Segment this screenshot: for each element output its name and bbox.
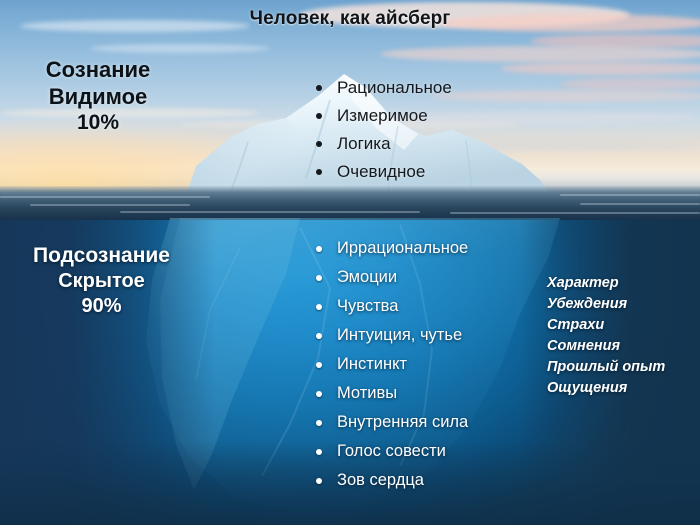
subconscious-percent: 90% bbox=[4, 294, 199, 319]
conscious-bullet-item: Логика bbox=[307, 130, 452, 158]
subconscious-traits-list: ХарактерУбежденияСтрахиСомненияПрошлый о… bbox=[547, 273, 665, 399]
page-title: Человек, как айсберг bbox=[0, 8, 700, 30]
subconscious-bullet-item: Чувства bbox=[307, 292, 468, 321]
conscious-heading-line2: Видимое bbox=[8, 83, 188, 110]
subconscious-bullet-item: Зов сердца bbox=[307, 466, 468, 495]
conscious-bullet-list: РациональноеИзмеримоеЛогикаОчевидное bbox=[307, 74, 452, 186]
subconscious-trait-item: Сомнения bbox=[547, 336, 665, 357]
subconscious-label: Подсознание Скрытое 90% bbox=[4, 243, 199, 319]
subconscious-trait-item: Ощущения bbox=[547, 378, 665, 399]
sea-surface bbox=[0, 186, 700, 222]
subconscious-trait-item: Прошлый опыт bbox=[547, 357, 665, 378]
conscious-heading-line1: Сознание bbox=[8, 56, 188, 83]
subconscious-bullet-item: Интуиция, чутье bbox=[307, 321, 468, 350]
subconscious-trait-item: Характер bbox=[547, 273, 665, 294]
subconscious-trait-item: Страхи bbox=[547, 315, 665, 336]
conscious-label: Сознание Видимое 10% bbox=[8, 56, 188, 136]
subconscious-trait-item: Убеждения bbox=[547, 294, 665, 315]
iceberg-infographic: Человек, как айсберг Сознание Видимое 10… bbox=[0, 0, 700, 525]
subconscious-bullet-item: Голос совести bbox=[307, 437, 468, 466]
subconscious-bullet-item: Инстинкт bbox=[307, 350, 468, 379]
subconscious-bullet-item: Эмоции bbox=[307, 263, 468, 292]
subconscious-bullet-list: ИррациональноеЭмоцииЧувстваИнтуиция, чут… bbox=[307, 234, 468, 495]
subconscious-bullet-item: Мотивы bbox=[307, 379, 468, 408]
subconscious-heading-line1: Подсознание bbox=[4, 243, 199, 269]
conscious-percent: 10% bbox=[8, 110, 188, 136]
subconscious-heading-line2: Скрытое bbox=[4, 269, 199, 294]
subconscious-bullet-item: Иррациональное bbox=[307, 234, 468, 263]
conscious-bullet-item: Очевидное bbox=[307, 158, 452, 186]
conscious-bullet-item: Измеримое bbox=[307, 102, 452, 130]
subconscious-bullet-item: Внутренняя сила bbox=[307, 408, 468, 437]
conscious-bullet-item: Рациональное bbox=[307, 74, 452, 102]
